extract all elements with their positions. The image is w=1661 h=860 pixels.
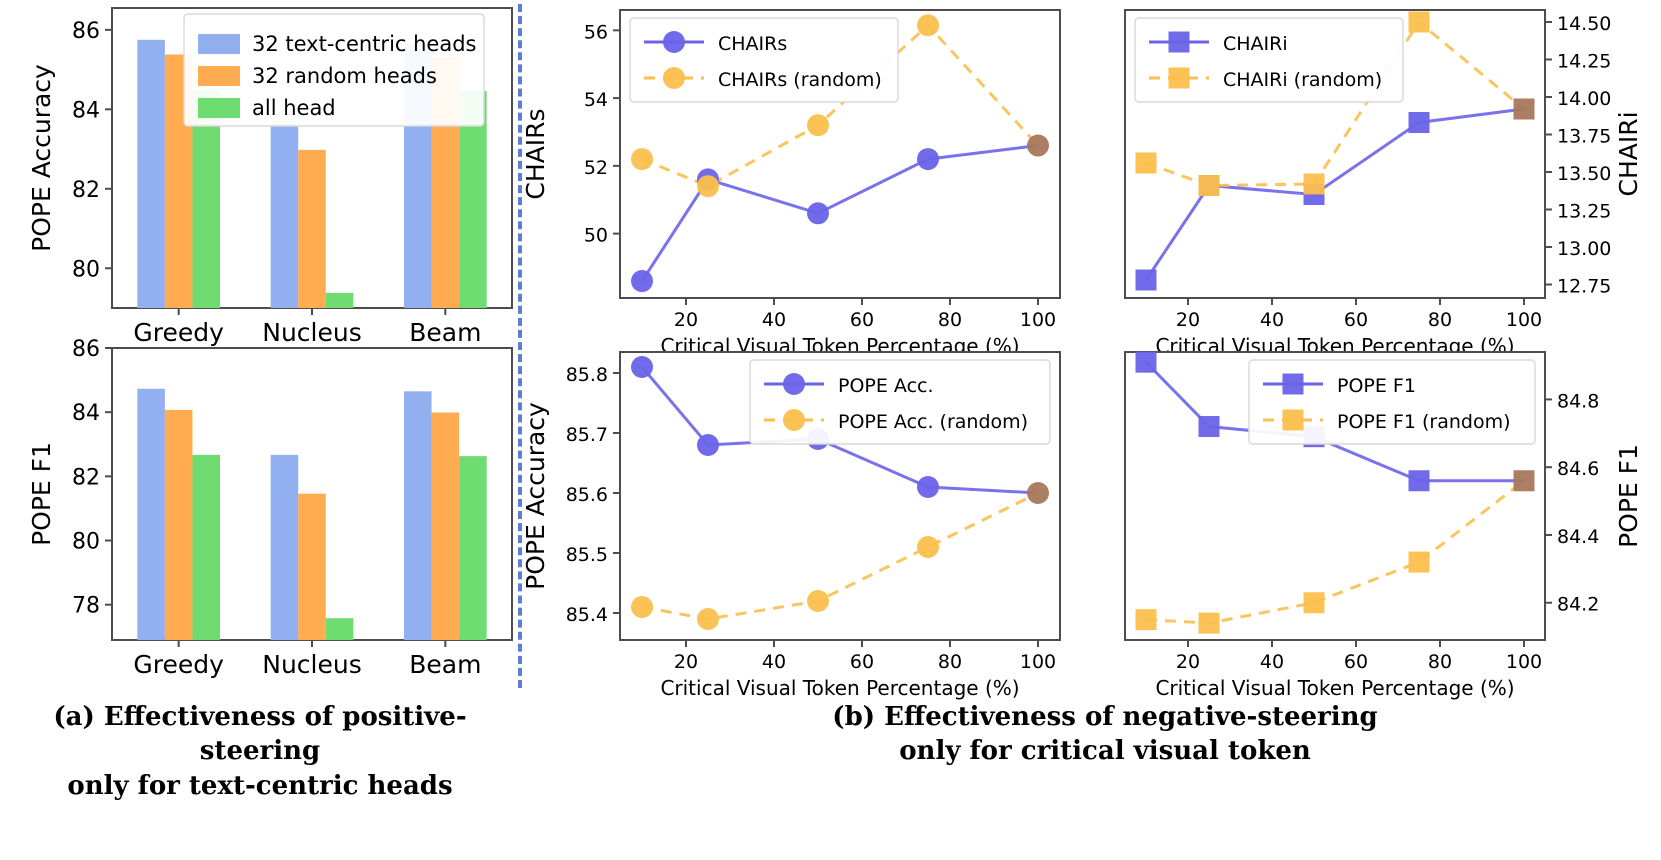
- ytick-label-pope-accuracy-line-2: 85.6: [566, 484, 608, 506]
- ytick-label-pope-f1-line-3: 84.8: [1557, 390, 1599, 412]
- bar-pope-accuracy-bars-greedy-0: [137, 40, 165, 308]
- charts-canvas: 80828486POPE AccuracyGreedyNucleusBeam32…: [0, 0, 1661, 700]
- xtick-label-pope-f1-line-4: 100: [1506, 651, 1542, 673]
- ytick-label-chairi-line-6: 14.25: [1557, 51, 1611, 73]
- ytick-label-pope-accuracy-line-3: 85.7: [566, 424, 608, 446]
- datapoint-chairs-line-0-2: [807, 202, 829, 224]
- datapoint-chairs-line-1-2: [807, 114, 829, 136]
- datapoint-pope-f1-line-1-0: [1136, 609, 1157, 630]
- xtick-label-pope-f1-line-3: 80: [1428, 651, 1452, 673]
- xtick-label-pope-accuracy-bars-1: Nucleus: [262, 318, 362, 347]
- ytick-label-pope-accuracy-bars-1: 82: [72, 178, 100, 203]
- legend-marker-pope-accuracy-line-0: [783, 373, 805, 395]
- yaxis-label-pope-accuracy-line: POPE Accuracy: [521, 402, 550, 590]
- ytick-label-pope-accuracy-bars-2: 84: [72, 98, 100, 123]
- caption-a: (a) Effectiveness of positive-steeringon…: [10, 700, 510, 803]
- xaxis-label-pope-f1-line: Critical Visual Token Percentage (%): [1155, 676, 1514, 700]
- caption-line-0: (a) Effectiveness of positive-steering: [10, 700, 510, 769]
- xtick-label-chairs-line-0: 20: [674, 309, 698, 331]
- legend-label-chairi-line-1: CHAIRi (random): [1223, 69, 1382, 91]
- bar-pope-accuracy-bars-nucleus-1: [298, 150, 326, 308]
- ytick-label-pope-f1-line-2: 84.6: [1557, 458, 1599, 480]
- ytick-label-pope-f1-bars-4: 86: [72, 337, 100, 362]
- bar-pope-f1-bars-greedy-2: [192, 455, 220, 640]
- xtick-label-chairs-line-1: 40: [762, 309, 786, 331]
- ytick-label-chairi-line-4: 13.75: [1557, 126, 1611, 148]
- legend-swatch-pope-accuracy-bars-2: [198, 98, 240, 118]
- bar-pope-f1-bars-beam-1: [432, 412, 460, 640]
- ytick-label-pope-accuracy-bars-0: 80: [72, 257, 100, 282]
- ytick-label-pope-accuracy-line-0: 85.4: [566, 604, 608, 626]
- xtick-label-pope-f1-bars-2: Beam: [409, 650, 481, 679]
- caption-b: (b) Effectiveness of negative-steeringon…: [560, 700, 1650, 769]
- datapoint-pope-f1-line-0-1: [1199, 416, 1220, 437]
- xtick-label-pope-accuracy-line-2: 60: [850, 651, 874, 673]
- datapoint-chairs-line-1-1: [697, 175, 719, 197]
- ytick-label-chairs-line-3: 56: [584, 21, 608, 43]
- xtick-label-chairs-line-3: 80: [938, 309, 962, 331]
- datapoint-pope-accuracy-line-0-4: [1027, 482, 1049, 504]
- datapoint-pope-f1-line-1-3: [1409, 552, 1430, 573]
- xtick-label-chairs-line-2: 60: [850, 309, 874, 331]
- ytick-label-pope-accuracy-line-4: 85.8: [566, 364, 608, 386]
- ytick-label-pope-f1-bars-3: 84: [72, 401, 100, 426]
- ytick-label-pope-f1-line-0: 84.2: [1557, 594, 1599, 616]
- bar-pope-f1-bars-nucleus-1: [298, 494, 326, 640]
- caption-line-1: only for critical visual token: [560, 734, 1650, 768]
- xtick-label-pope-f1-line-2: 60: [1344, 651, 1368, 673]
- legend-marker-pope-f1-line-1: [1283, 410, 1304, 431]
- ytick-label-pope-accuracy-line-1: 85.5: [566, 544, 608, 566]
- legend-marker-chairi-line-0: [1169, 32, 1190, 53]
- xtick-label-pope-f1-bars-1: Nucleus: [262, 650, 362, 679]
- datapoint-chairs-line-0-3: [917, 148, 939, 170]
- xtick-label-pope-f1-bars-0: Greedy: [133, 650, 224, 679]
- datapoint-pope-accuracy-line-0-0: [631, 356, 653, 378]
- xtick-label-chairi-line-0: 20: [1176, 309, 1200, 331]
- ytick-label-pope-f1-bars-2: 82: [72, 465, 100, 490]
- bar-pope-f1-bars-greedy-1: [165, 410, 193, 640]
- datapoint-pope-f1-line-1-2: [1304, 592, 1325, 613]
- xtick-label-pope-accuracy-bars-0: Greedy: [133, 318, 224, 347]
- legend-marker-chairs-line-0: [663, 31, 685, 53]
- legend-label-pope-f1-line-0: POPE F1: [1337, 375, 1416, 397]
- datapoint-chairi-line-1-1: [1199, 175, 1220, 196]
- figure-root: 80828486POPE AccuracyGreedyNucleusBeam32…: [0, 0, 1661, 860]
- xtick-label-chairi-line-3: 80: [1428, 309, 1452, 331]
- bar-pope-f1-bars-nucleus-2: [326, 618, 354, 640]
- legend-label-chairs-line-1: CHAIRs (random): [718, 69, 882, 91]
- legend-marker-chairs-line-1: [663, 67, 685, 89]
- legend-marker-pope-f1-line-0: [1283, 374, 1304, 395]
- yaxis-label-pope-f1-bars: POPE F1: [27, 442, 56, 546]
- xtick-label-pope-f1-line-1: 40: [1260, 651, 1284, 673]
- ytick-label-chairi-line-3: 13.50: [1557, 163, 1611, 185]
- bar-pope-f1-bars-beam-2: [459, 456, 487, 640]
- xtick-label-pope-accuracy-line-3: 80: [938, 651, 962, 673]
- datapoint-pope-accuracy-line-0-3: [917, 476, 939, 498]
- xtick-label-pope-f1-line-0: 20: [1176, 651, 1200, 673]
- ytick-label-chairs-line-2: 54: [584, 89, 608, 111]
- ytick-label-pope-f1-bars-1: 80: [72, 530, 100, 555]
- datapoint-pope-f1-line-1-1: [1199, 613, 1220, 634]
- xtick-label-pope-accuracy-line-1: 40: [762, 651, 786, 673]
- xtick-label-pope-accuracy-line-0: 20: [674, 651, 698, 673]
- xtick-label-chairs-line-4: 100: [1020, 309, 1056, 331]
- ytick-label-chairs-line-0: 50: [584, 225, 608, 247]
- ytick-label-chairi-line-1: 13.00: [1557, 238, 1611, 260]
- xtick-label-pope-accuracy-line-4: 100: [1020, 651, 1056, 673]
- datapoint-pope-accuracy-line-1-1: [697, 608, 719, 630]
- chart-pope-accuracy-bars: 80828486POPE AccuracyGreedyNucleusBeam32…: [27, 8, 512, 347]
- chart-chairs-line: 20406080100Critical Visual Token Percent…: [521, 10, 1060, 358]
- chart-chairi-line: 20406080100Critical Visual Token Percent…: [1125, 10, 1643, 358]
- yaxis-label-chairs-line: CHAIRs: [521, 108, 550, 199]
- datapoint-pope-accuracy-line-1-2: [807, 590, 829, 612]
- xaxis-label-pope-accuracy-line: Critical Visual Token Percentage (%): [660, 676, 1019, 700]
- datapoint-chairs-line-0-4: [1027, 135, 1049, 157]
- bar-pope-f1-bars-beam-0: [404, 391, 432, 640]
- caption-line-1: only for text-centric heads: [10, 769, 510, 803]
- ytick-label-pope-accuracy-bars-3: 86: [72, 19, 100, 44]
- datapoint-chairi-line-1-0: [1136, 153, 1157, 174]
- datapoint-chairs-line-1-3: [917, 14, 939, 36]
- legend-label-pope-accuracy-line-1: POPE Acc. (random): [838, 411, 1028, 433]
- ytick-label-chairi-line-0: 12.75: [1557, 276, 1611, 298]
- ytick-label-chairi-line-7: 14.50: [1557, 13, 1611, 35]
- xtick-label-chairi-line-4: 100: [1506, 309, 1542, 331]
- datapoint-chairi-line-0-4: [1514, 99, 1535, 120]
- legend-marker-chairi-line-1: [1169, 68, 1190, 89]
- legend-label-pope-accuracy-bars-0: 32 text-centric heads: [252, 32, 477, 56]
- chart-pope-f1-bars: 7880828486POPE F1GreedyNucleusBeam: [27, 337, 512, 679]
- ytick-label-pope-f1-line-1: 84.4: [1557, 526, 1599, 548]
- xtick-label-chairi-line-2: 60: [1344, 309, 1368, 331]
- bar-pope-f1-bars-greedy-0: [137, 389, 165, 640]
- xtick-label-chairi-line-1: 40: [1260, 309, 1284, 331]
- datapoint-pope-accuracy-line-1-3: [917, 536, 939, 558]
- yaxis-label-pope-f1-line: POPE F1: [1614, 444, 1643, 548]
- panel-divider: [518, 4, 522, 688]
- bar-pope-accuracy-bars-nucleus-2: [326, 293, 354, 308]
- legend-swatch-pope-accuracy-bars-0: [198, 34, 240, 54]
- bar-pope-f1-bars-nucleus-0: [271, 455, 299, 640]
- yaxis-label-pope-accuracy-bars: POPE Accuracy: [27, 64, 56, 252]
- legend-label-pope-accuracy-bars-1: 32 random heads: [252, 64, 437, 88]
- legend-label-chairs-line-0: CHAIRs: [718, 33, 787, 55]
- legend-label-pope-accuracy-line-0: POPE Acc.: [838, 375, 934, 397]
- ytick-label-chairs-line-1: 52: [584, 157, 608, 179]
- datapoint-chairi-line-1-2: [1304, 174, 1325, 195]
- datapoint-chairi-line-0-0: [1136, 270, 1157, 291]
- datapoint-chairs-line-1-0: [631, 148, 653, 170]
- legend-swatch-pope-accuracy-bars-1: [198, 66, 240, 86]
- caption-line-0: (b) Effectiveness of negative-steering: [560, 700, 1650, 734]
- datapoint-pope-f1-line-0-3: [1409, 470, 1430, 491]
- ytick-label-chairi-line-5: 14.00: [1557, 88, 1611, 110]
- legend-label-pope-accuracy-bars-2: all head: [252, 96, 336, 120]
- chart-pope-f1-line: 20406080100Critical Visual Token Percent…: [1125, 352, 1643, 700]
- legend-label-chairi-line-0: CHAIRi: [1223, 33, 1288, 55]
- legend-label-pope-f1-line-1: POPE F1 (random): [1337, 411, 1511, 433]
- datapoint-pope-accuracy-line-1-0: [631, 596, 653, 618]
- bar-pope-accuracy-bars-nucleus-0: [271, 124, 299, 308]
- chart-pope-accuracy-line: 20406080100Critical Visual Token Percent…: [521, 352, 1060, 700]
- datapoint-chairi-line-0-3: [1409, 112, 1430, 133]
- datapoint-pope-accuracy-line-0-1: [697, 434, 719, 456]
- ytick-label-chairi-line-2: 13.25: [1557, 201, 1611, 223]
- datapoint-chairi-line-1-3: [1409, 12, 1430, 33]
- yaxis-label-chairi-line: CHAIRi: [1614, 111, 1643, 196]
- datapoint-chairs-line-0-0: [631, 270, 653, 292]
- xtick-label-pope-accuracy-bars-2: Beam: [409, 318, 481, 347]
- datapoint-pope-f1-line-0-0: [1136, 352, 1157, 373]
- legend-marker-pope-accuracy-line-1: [783, 409, 805, 431]
- ytick-label-pope-f1-bars-0: 78: [72, 594, 100, 619]
- datapoint-pope-f1-line-0-4: [1514, 470, 1535, 491]
